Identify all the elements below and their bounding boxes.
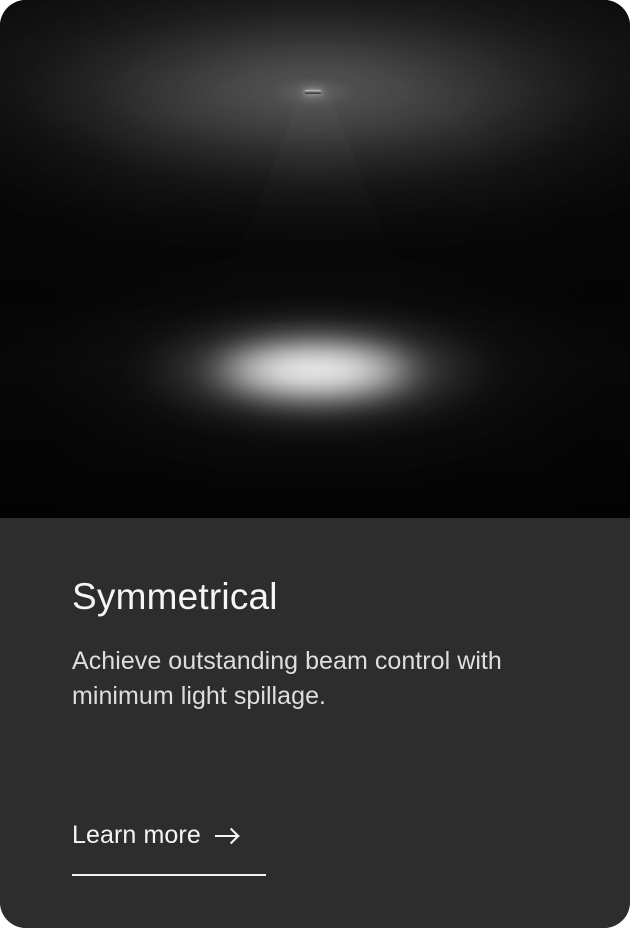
arrow-right-icon xyxy=(215,827,241,845)
card-description: Achieve outstanding beam control with mi… xyxy=(72,619,558,715)
light-beam-visual xyxy=(0,0,630,518)
learn-more-link[interactable]: Learn more xyxy=(72,823,266,876)
feature-card: Symmetrical Achieve outstanding beam con… xyxy=(0,0,630,928)
card-content: Symmetrical Achieve outstanding beam con… xyxy=(0,518,630,928)
light-pool-core xyxy=(203,341,427,399)
page-title: Symmetrical xyxy=(72,518,558,619)
downlight-fixture-icon xyxy=(305,90,322,94)
learn-more-label: Learn more xyxy=(72,823,201,848)
